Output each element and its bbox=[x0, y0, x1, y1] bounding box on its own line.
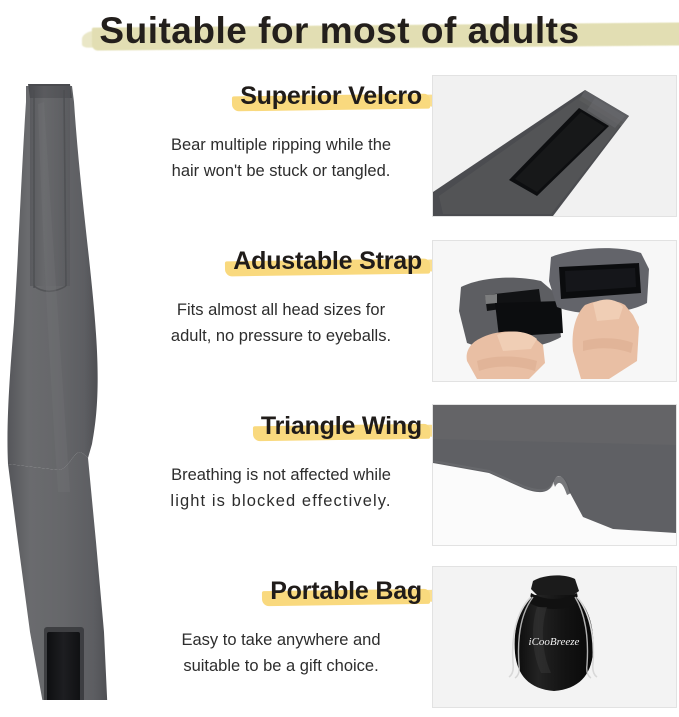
header: Suitable for most of adults bbox=[0, 0, 679, 62]
mask-left-inner-panel bbox=[495, 301, 563, 337]
feature-body: Easy to take anywhere and suitable to be… bbox=[134, 627, 428, 679]
feature-body-line: Breathing is not affected while bbox=[138, 462, 424, 488]
feature-adustable-strap: Adustable Strap Fits almost all head siz… bbox=[134, 247, 428, 387]
hands-holding-mask-photo bbox=[433, 241, 676, 381]
nose-wing-closeup-photo bbox=[433, 405, 676, 545]
feature-body-line: Fits almost all head sizes for bbox=[138, 297, 424, 323]
hero-product-photo bbox=[0, 72, 134, 700]
feature-heading-text: Adustable Strap bbox=[233, 247, 422, 275]
feature-body: Fits almost all head sizes for adult, no… bbox=[134, 297, 428, 349]
photo-panel-hands-holding-mask bbox=[432, 240, 677, 382]
photo-panel-nose-wing-closeup bbox=[432, 404, 677, 546]
feature-body-line: Easy to take anywhere and bbox=[138, 627, 424, 653]
feature-heading: Adustable Strap bbox=[134, 247, 428, 283]
photo-panel-drawstring-bag: iCooBreeze bbox=[432, 566, 677, 708]
feature-body-line: hair won't be stuck or tangled. bbox=[138, 158, 424, 184]
feature-body-line: Bear multiple ripping while the bbox=[138, 132, 424, 158]
page-title: Suitable for most of adults bbox=[85, 4, 593, 58]
feature-body: Bear multiple ripping while the hair won… bbox=[134, 132, 428, 184]
page-title-text: Suitable for most of adults bbox=[99, 4, 579, 58]
photo-panel-list: iCooBreeze bbox=[432, 72, 679, 702]
feature-triangle-wing: Triangle Wing Breathing is not affected … bbox=[134, 412, 428, 552]
bag-gathered-top bbox=[531, 575, 579, 597]
feature-heading-text: Superior Velcro bbox=[240, 82, 422, 110]
photo-panel-velcro-closeup bbox=[432, 75, 677, 217]
feature-heading: Portable Bag bbox=[134, 577, 428, 613]
feature-portable-bag: Portable Bag Easy to take anywhere and s… bbox=[134, 577, 428, 717]
feature-body-line: light is blocked effectively. bbox=[138, 488, 424, 514]
feature-heading: Triangle Wing bbox=[134, 412, 428, 448]
drawstring-bag-photo: iCooBreeze bbox=[433, 567, 676, 707]
mask-left-tag bbox=[485, 294, 497, 304]
feature-heading-text: Portable Bag bbox=[270, 577, 422, 605]
product-infographic: { "header": { "title": "Suitable for mos… bbox=[0, 0, 679, 702]
mask-upper-sheen bbox=[433, 405, 676, 445]
feature-list: Superior Velcro Bear multiple ripping wh… bbox=[134, 74, 428, 700]
velcro-patch bbox=[47, 632, 80, 700]
feature-heading: Superior Velcro bbox=[134, 82, 428, 118]
velcro-closeup-photo bbox=[433, 76, 676, 216]
feature-superior-velcro: Superior Velcro Bear multiple ripping wh… bbox=[134, 82, 428, 222]
feature-heading-text: Triangle Wing bbox=[261, 412, 422, 440]
feature-body: Breathing is not affected while light is… bbox=[134, 462, 428, 514]
bag-logo-text: iCooBreeze bbox=[529, 636, 580, 648]
feature-body-line: suitable to be a gift choice. bbox=[138, 653, 424, 679]
feature-body-line: adult, no pressure to eyeballs. bbox=[138, 323, 424, 349]
gray-sleep-mask-illustration bbox=[0, 72, 134, 700]
